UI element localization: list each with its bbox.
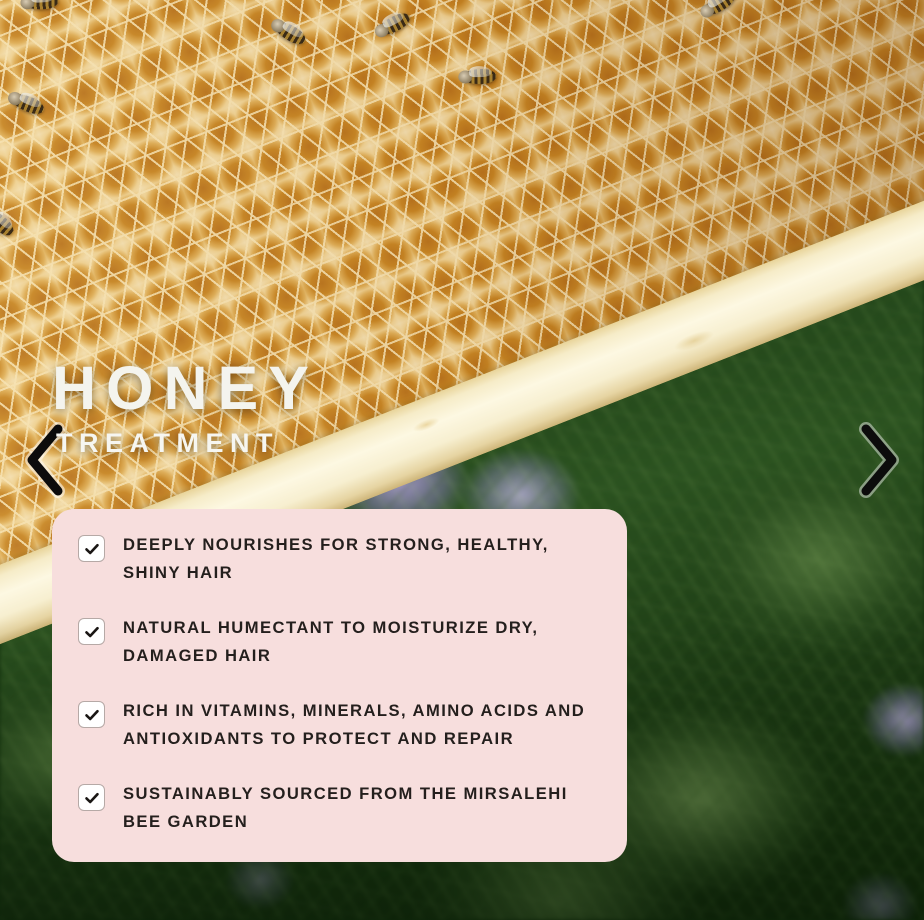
benefit-checkbox[interactable]: [78, 535, 105, 562]
benefit-checkbox[interactable]: [78, 618, 105, 645]
benefit-label: DEEPLY NOURISHES FOR STRONG, HEALTHY, SH…: [123, 531, 601, 587]
benefit-checkbox[interactable]: [78, 784, 105, 811]
benefit-label: SUSTAINABLY SOURCED FROM THE MIRSALEHI B…: [123, 780, 601, 836]
slide-title-block: HONEY TREATMENT: [52, 358, 319, 457]
chevron-right-icon: [852, 421, 906, 499]
benefit-label: NATURAL HUMECTANT TO MOISTURIZE DRY, DAM…: [123, 614, 601, 670]
benefit-row: RICH IN VITAMINS, MINERALS, AMINO ACIDS …: [78, 697, 601, 780]
benefit-label: RICH IN VITAMINS, MINERALS, AMINO ACIDS …: [123, 697, 601, 753]
promo-slide: HONEY TREATMENT DEEPLY NOURISHES FOR STR…: [0, 0, 924, 920]
page-subtitle: TREATMENT: [56, 430, 319, 457]
page-title: HONEY: [52, 358, 319, 419]
check-icon: [84, 541, 100, 557]
benefit-row: SUSTAINABLY SOURCED FROM THE MIRSALEHI B…: [78, 780, 601, 863]
benefit-row: DEEPLY NOURISHES FOR STRONG, HEALTHY, SH…: [78, 531, 601, 614]
next-slide-button[interactable]: [852, 421, 906, 499]
benefits-panel: DEEPLY NOURISHES FOR STRONG, HEALTHY, SH…: [52, 509, 627, 862]
benefit-checkbox[interactable]: [78, 701, 105, 728]
check-icon: [84, 624, 100, 640]
benefit-row: NATURAL HUMECTANT TO MOISTURIZE DRY, DAM…: [78, 614, 601, 697]
check-icon: [84, 790, 100, 806]
check-icon: [84, 707, 100, 723]
